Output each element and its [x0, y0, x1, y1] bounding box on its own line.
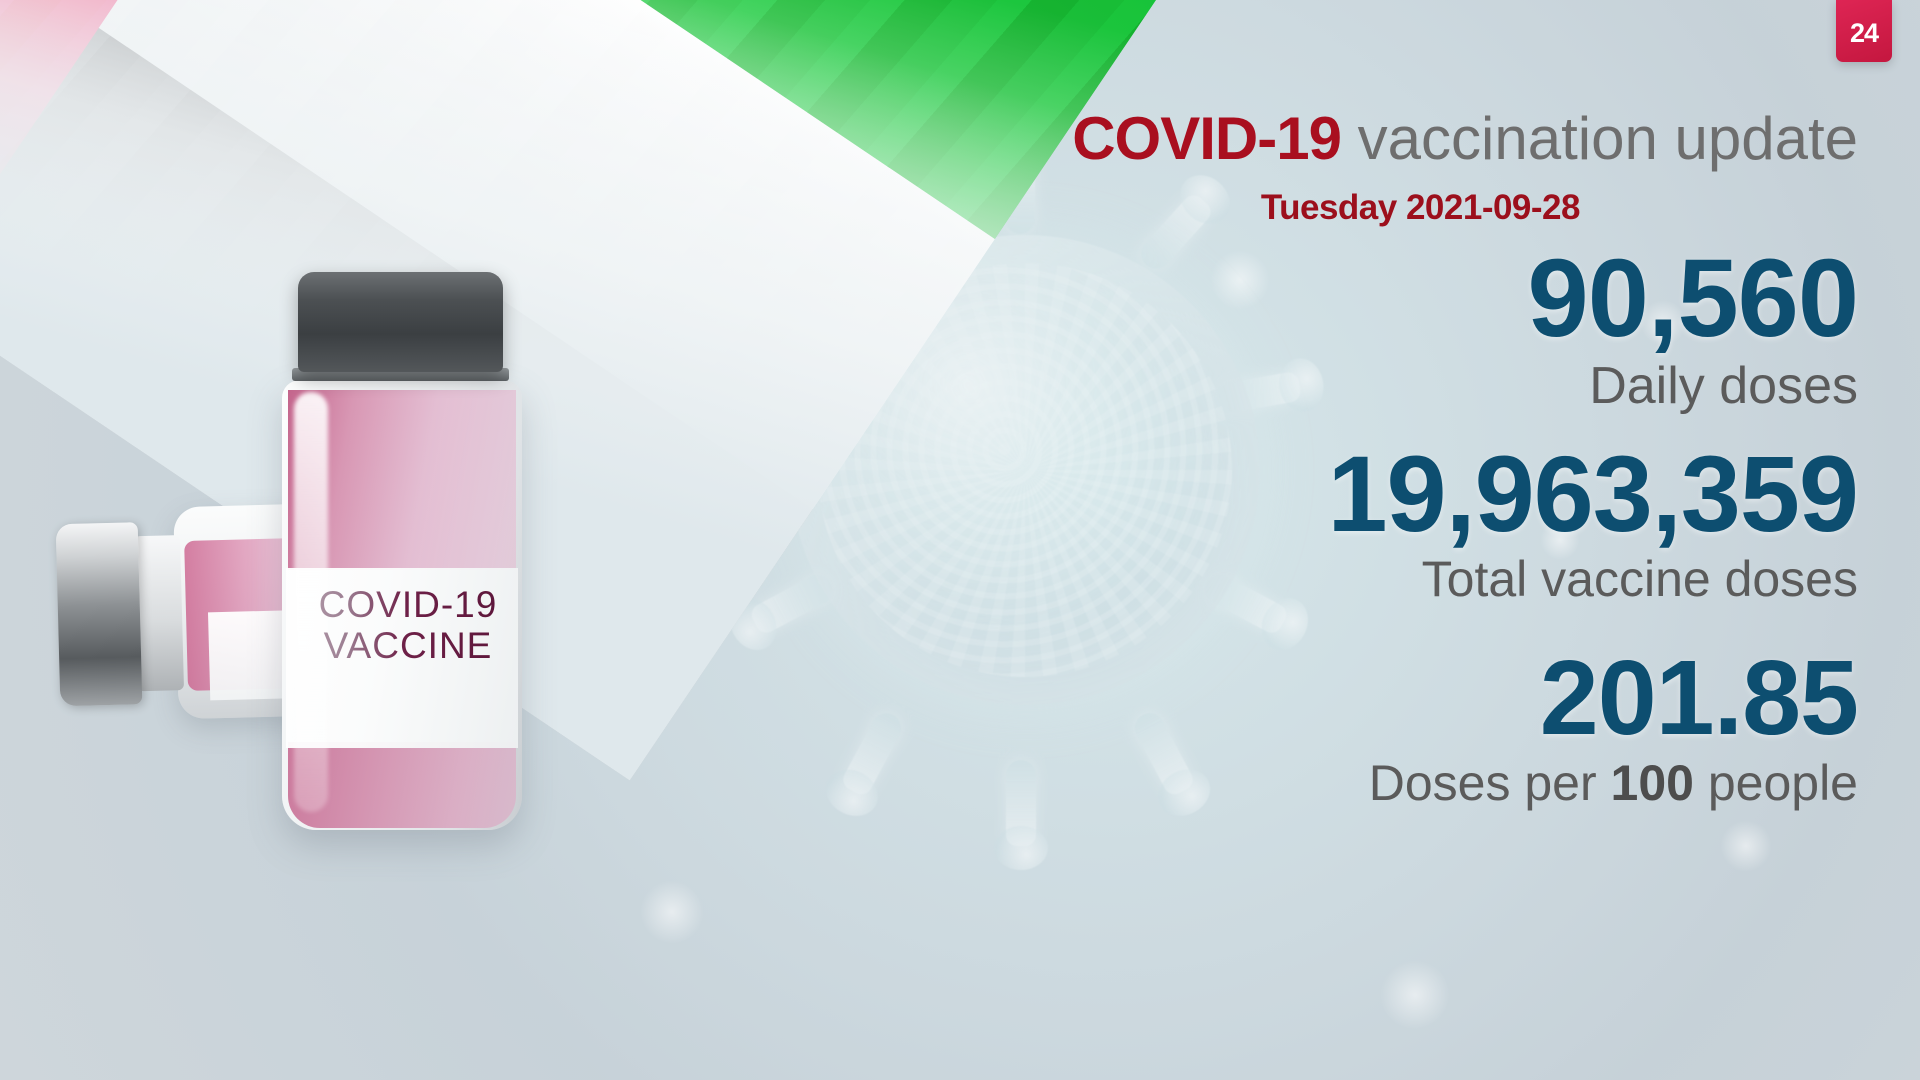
stat-label: Doses per 100 people [1369, 756, 1858, 811]
vaccine-vial-standing: COVID-19 VACCINE [268, 272, 536, 832]
vial-label-text: COVID-19 VACCINE [298, 584, 518, 667]
channel-24-logo: 24 [1836, 0, 1892, 62]
vial-label-line1: COVID-19 [298, 584, 518, 625]
logo-text: 24 [1850, 20, 1878, 47]
vial-neck [134, 535, 184, 691]
page-title: COVID-19 vaccination update [1072, 104, 1858, 173]
vial-cap [298, 272, 503, 372]
title-rest: vaccination update [1341, 105, 1858, 172]
stat-value: 201.85 [1369, 648, 1858, 750]
vial-cap [56, 522, 143, 706]
virus-spike-icon [840, 708, 907, 798]
stat-label-pre: Doses per [1369, 755, 1611, 811]
stats-panel: 24 COVID-19 vaccination update Tuesday 2… [940, 0, 1920, 1080]
stat-label-post: people [1694, 755, 1858, 811]
infographic-canvas: COVID-19 VACCINE 24 COVID-19 vaccination… [0, 0, 1920, 1080]
title-highlight: COVID-19 [1072, 105, 1341, 172]
stat-total-doses: 19,963,359 Total vaccine doses [1327, 442, 1858, 607]
stat-doses-per-100: 201.85 Doses per 100 people [1369, 648, 1858, 811]
vial-label-line2: VACCINE [298, 625, 518, 666]
stat-label-bold: 100 [1611, 755, 1694, 811]
stat-label: Total vaccine doses [1327, 552, 1858, 607]
stat-daily-doses: 90,560 Daily doses [1528, 246, 1858, 415]
stat-value: 90,560 [1528, 246, 1858, 352]
stat-label: Daily doses [1528, 358, 1858, 415]
update-date: Tuesday 2021-09-28 [1261, 188, 1580, 228]
stat-value: 19,963,359 [1327, 442, 1858, 546]
